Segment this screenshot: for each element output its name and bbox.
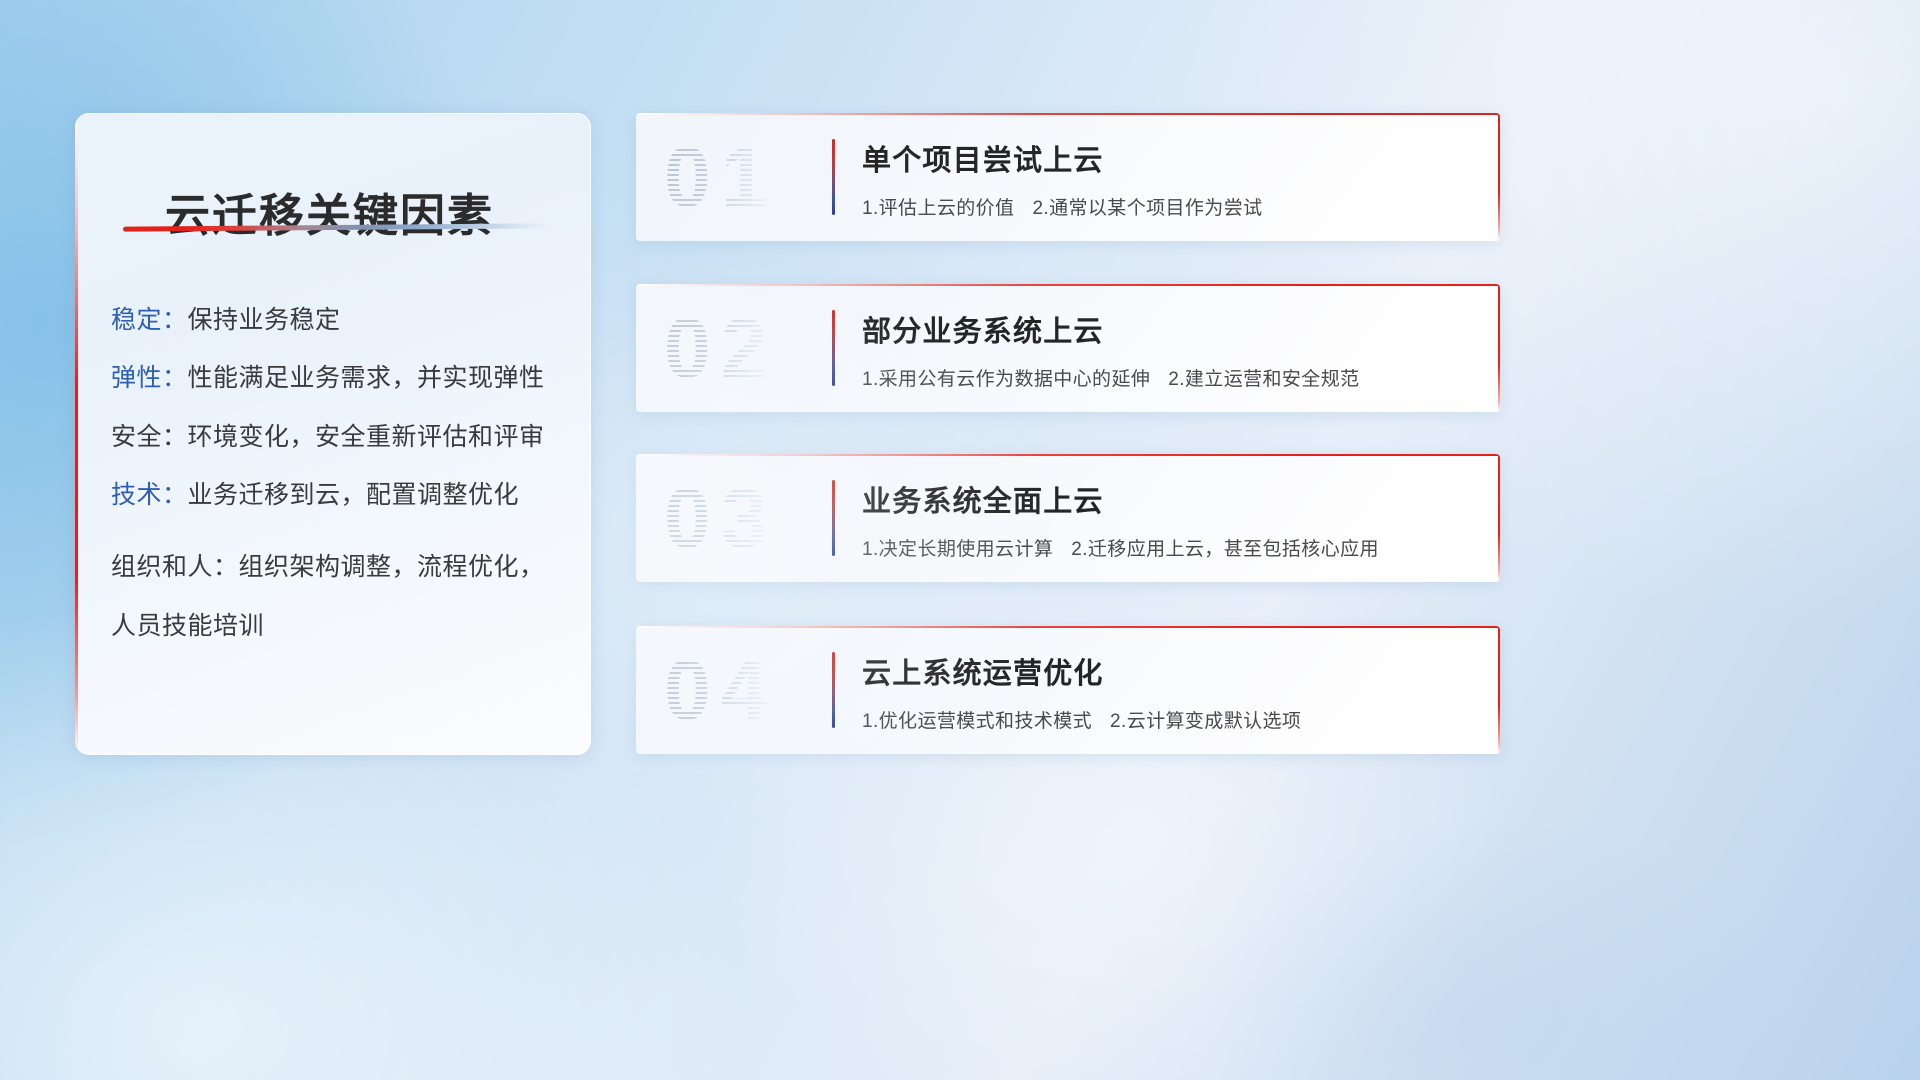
step-point-2: 2.云计算变成默认选项 xyxy=(1110,711,1301,732)
factor-item: 稳定：保持业务稳定 xyxy=(111,305,567,336)
factor-item: 组织和人：组织架构调整，流程优化，人员技能培训 xyxy=(111,538,567,656)
step-divider xyxy=(832,139,835,215)
step-card[interactable]: 04 云上系统运营优化 1.优化运营模式和技术模式2.云计算变成默认选项 xyxy=(636,626,1500,754)
factor-item: 安全：环境变化，安全重新评估和评审 xyxy=(111,422,567,453)
step-body: 部分业务系统上云 1.采用公有云作为数据中心的延伸2.建立运营和安全规范 xyxy=(862,308,1480,391)
factor-label: 弹性： xyxy=(111,364,188,392)
factor-item: 弹性：性能满足业务需求，并实现弹性 xyxy=(111,363,567,394)
step-heading: 云上系统运营优化 xyxy=(862,650,1480,692)
factor-text: 环境变化，安全重新评估和评审 xyxy=(188,423,545,451)
step-divider xyxy=(832,652,835,728)
factor-item: 技术：业务迁移到云，配置调整优化 xyxy=(111,480,567,511)
step-card[interactable]: 01 单个项目尝试上云 1.评估上云的价值2.通常以某个项目作为尝试 xyxy=(636,113,1500,241)
step-description: 1.决定长期使用云计算2.迁移应用上云，甚至包括核心应用 xyxy=(862,534,1480,561)
step-description: 1.采用公有云作为数据中心的延伸2.建立运营和安全规范 xyxy=(862,364,1480,391)
factor-text: 保持业务稳定 xyxy=(188,306,341,334)
step-number: 01 xyxy=(664,129,848,225)
factor-text: 业务迁移到云，配置调整优化 xyxy=(188,481,520,509)
factor-text: 性能满足业务需求，并实现弹性 xyxy=(188,364,545,392)
step-card[interactable]: 03 业务系统全面上云 1.决定长期使用云计算2.迁移应用上云，甚至包括核心应用 xyxy=(636,454,1500,582)
step-number: 02 xyxy=(664,300,848,396)
step-point-2: 2.迁移应用上云，甚至包括核心应用 xyxy=(1071,539,1379,560)
factor-label: 组织和人： xyxy=(111,553,239,581)
step-heading: 单个项目尝试上云 xyxy=(862,137,1480,179)
key-factors-card: 云迁移关键因素 稳定：保持业务稳定 弹性：性能满足业务需求，并实现弹性 安全：环… xyxy=(75,113,591,755)
step-point-1: 1.采用公有云作为数据中心的延伸 xyxy=(862,369,1150,390)
step-body: 单个项目尝试上云 1.评估上云的价值2.通常以某个项目作为尝试 xyxy=(862,137,1480,220)
card-title: 云迁移关键因素 xyxy=(165,179,494,244)
factor-label: 技术： xyxy=(111,481,188,509)
step-point-1: 1.评估上云的价值 xyxy=(862,198,1014,219)
step-heading: 部分业务系统上云 xyxy=(862,308,1480,350)
step-description: 1.优化运营模式和技术模式2.云计算变成默认选项 xyxy=(862,706,1480,733)
factor-list: 稳定：保持业务稳定 弹性：性能满足业务需求，并实现弹性 安全：环境变化，安全重新… xyxy=(111,305,567,683)
step-point-1: 1.优化运营模式和技术模式 xyxy=(862,711,1092,732)
step-point-2: 2.通常以某个项目作为尝试 xyxy=(1032,198,1262,219)
factor-label: 稳定： xyxy=(111,306,188,334)
step-number: 04 xyxy=(664,642,848,738)
factor-label: 安全： xyxy=(111,423,188,451)
step-card[interactable]: 02 部分业务系统上云 1.采用公有云作为数据中心的延伸2.建立运营和安全规范 xyxy=(636,284,1500,412)
step-point-2: 2.建立运营和安全规范 xyxy=(1168,369,1359,390)
step-description: 1.评估上云的价值2.通常以某个项目作为尝试 xyxy=(862,193,1480,220)
step-divider xyxy=(832,480,835,556)
slide-canvas: 云迁移关键因素 稳定：保持业务稳定 弹性：性能满足业务需求，并实现弹性 安全：环… xyxy=(0,0,1920,1080)
step-divider xyxy=(832,310,835,386)
step-body: 云上系统运营优化 1.优化运营模式和技术模式2.云计算变成默认选项 xyxy=(862,650,1480,733)
step-body: 业务系统全面上云 1.决定长期使用云计算2.迁移应用上云，甚至包括核心应用 xyxy=(862,478,1480,561)
step-heading: 业务系统全面上云 xyxy=(862,478,1480,520)
step-number: 03 xyxy=(664,470,848,566)
step-point-1: 1.决定长期使用云计算 xyxy=(862,539,1053,560)
